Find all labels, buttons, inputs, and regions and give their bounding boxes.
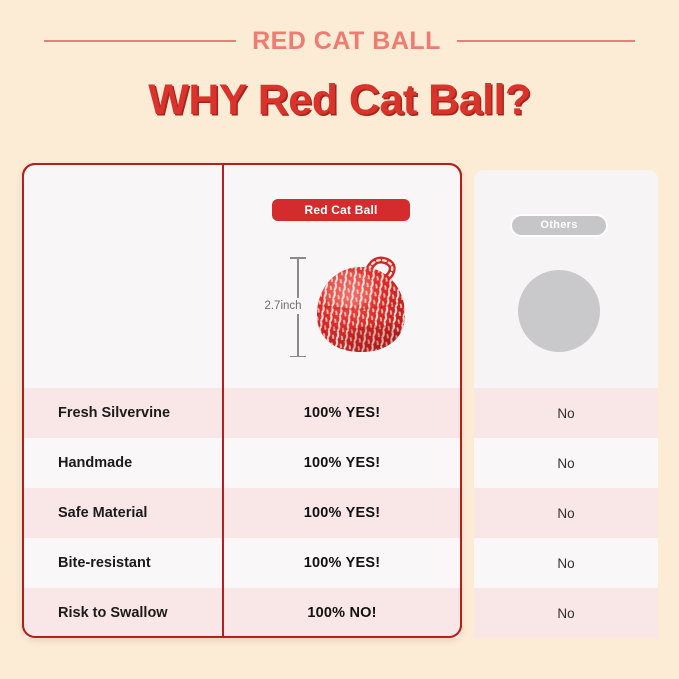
row-feature-label: Handmade	[58, 438, 132, 488]
row-value-product: 100% YES!	[226, 388, 458, 438]
decorative-rule-right	[457, 40, 635, 42]
row-feature-label: Fresh Silvervine	[58, 388, 170, 438]
page-header: RED CAT BALL WHY Red Cat Ball?	[0, 0, 679, 150]
others-ball-placeholder-icon	[518, 270, 600, 352]
measurement-label: 2.7inch	[253, 298, 313, 314]
row-value-others: No	[474, 488, 658, 538]
page-title: WHY Red Cat Ball?	[0, 72, 679, 128]
eyebrow-row: RED CAT BALL	[0, 26, 679, 56]
brand-eyebrow: RED CAT BALL	[252, 26, 441, 56]
table-row: Bite-resistant 100% YES! No	[0, 538, 679, 588]
row-feature-label: Bite-resistant	[58, 538, 151, 588]
measurement-cap-bottom	[290, 356, 306, 358]
row-value-product: 100% YES!	[226, 538, 458, 588]
table-row: Safe Material 100% YES! No	[0, 488, 679, 538]
decorative-rule-left	[44, 40, 236, 42]
row-value-others: No	[474, 588, 658, 638]
row-feature-label: Safe Material	[58, 488, 147, 538]
row-value-product: 100% YES!	[226, 488, 458, 538]
product-hero-area: Red Cat Ball 2.7inch	[24, 165, 460, 386]
table-row: Handmade 100% YES! No	[0, 438, 679, 488]
card-column-divider	[222, 165, 224, 636]
product-badge: Red Cat Ball	[272, 199, 410, 221]
others-badge-label: Others	[540, 220, 577, 231]
row-value-product: 100% NO!	[226, 588, 458, 638]
measurement-cap-top	[290, 257, 306, 259]
others-badge: Others	[510, 214, 608, 237]
product-ball-image	[312, 247, 410, 355]
row-feature-label: Risk to Swallow	[58, 588, 168, 638]
row-value-others: No	[474, 438, 658, 488]
row-value-product: 100% YES!	[226, 438, 458, 488]
table-row: Risk to Swallow 100% NO! No	[0, 588, 679, 638]
row-value-others: No	[474, 388, 658, 438]
table-row: Fresh Silvervine 100% YES! No	[0, 388, 679, 438]
product-badge-label: Red Cat Ball	[304, 204, 377, 216]
comparison-rows: Fresh Silvervine 100% YES! No Handmade 1…	[0, 388, 679, 638]
row-value-others: No	[474, 538, 658, 588]
